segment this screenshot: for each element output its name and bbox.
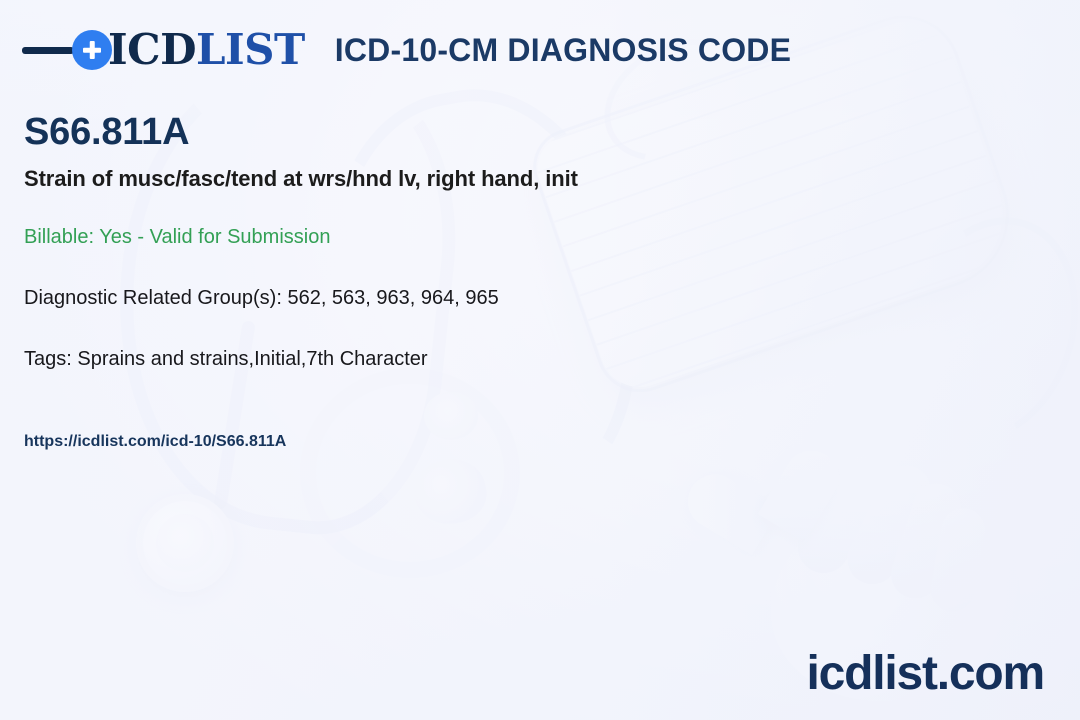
plus-icon-vertical-bar — [90, 41, 95, 59]
diagnosis-description: Strain of musc/fasc/tend at wrs/hnd lv, … — [24, 166, 1024, 192]
logo-word-icd: ICD — [108, 25, 196, 74]
stethoscope-diaphragm — [156, 514, 214, 572]
plus-icon — [72, 30, 112, 70]
diagnosis-code-card: ICDLIST ICD-10-CM DIAGNOSIS CODE S66.811… — [0, 0, 1080, 720]
code-url[interactable]: https://icdlist.com/icd-10/S66.811A — [24, 433, 1024, 451]
dash-icon — [22, 47, 74, 54]
page-header: ICDLIST ICD-10-CM DIAGNOSIS CODE — [0, 0, 1080, 100]
hand-finger — [788, 445, 905, 584]
hand-finger — [839, 457, 939, 592]
stethoscope-earpiece-a — [408, 453, 492, 531]
icdlist-logo[interactable]: ICDLIST — [22, 27, 305, 73]
logo-wordmark: ICDLIST — [108, 29, 305, 71]
page-title: ICD-10-CM DIAGNOSIS CODE — [335, 32, 791, 69]
code-details: S66.811A Strain of musc/fasc/tend at wrs… — [24, 112, 1024, 451]
logo-word-list: LIST — [196, 25, 305, 74]
billable-status: Billable: Yes - Valid for Submission — [24, 226, 1024, 249]
diagnostic-related-groups: Diagnostic Related Group(s): 562, 563, 9… — [24, 287, 1024, 310]
paper-heart-shape — [679, 459, 810, 590]
footer-brand: icdlist.com — [806, 650, 1044, 698]
diagnosis-code: S66.811A — [24, 112, 1024, 154]
hand-finger — [927, 505, 988, 615]
code-tags: Tags: Sprains and strains,Initial,7th Ch… — [24, 348, 1024, 371]
hand-finger — [885, 477, 967, 604]
stethoscope-chestpiece — [136, 494, 234, 592]
